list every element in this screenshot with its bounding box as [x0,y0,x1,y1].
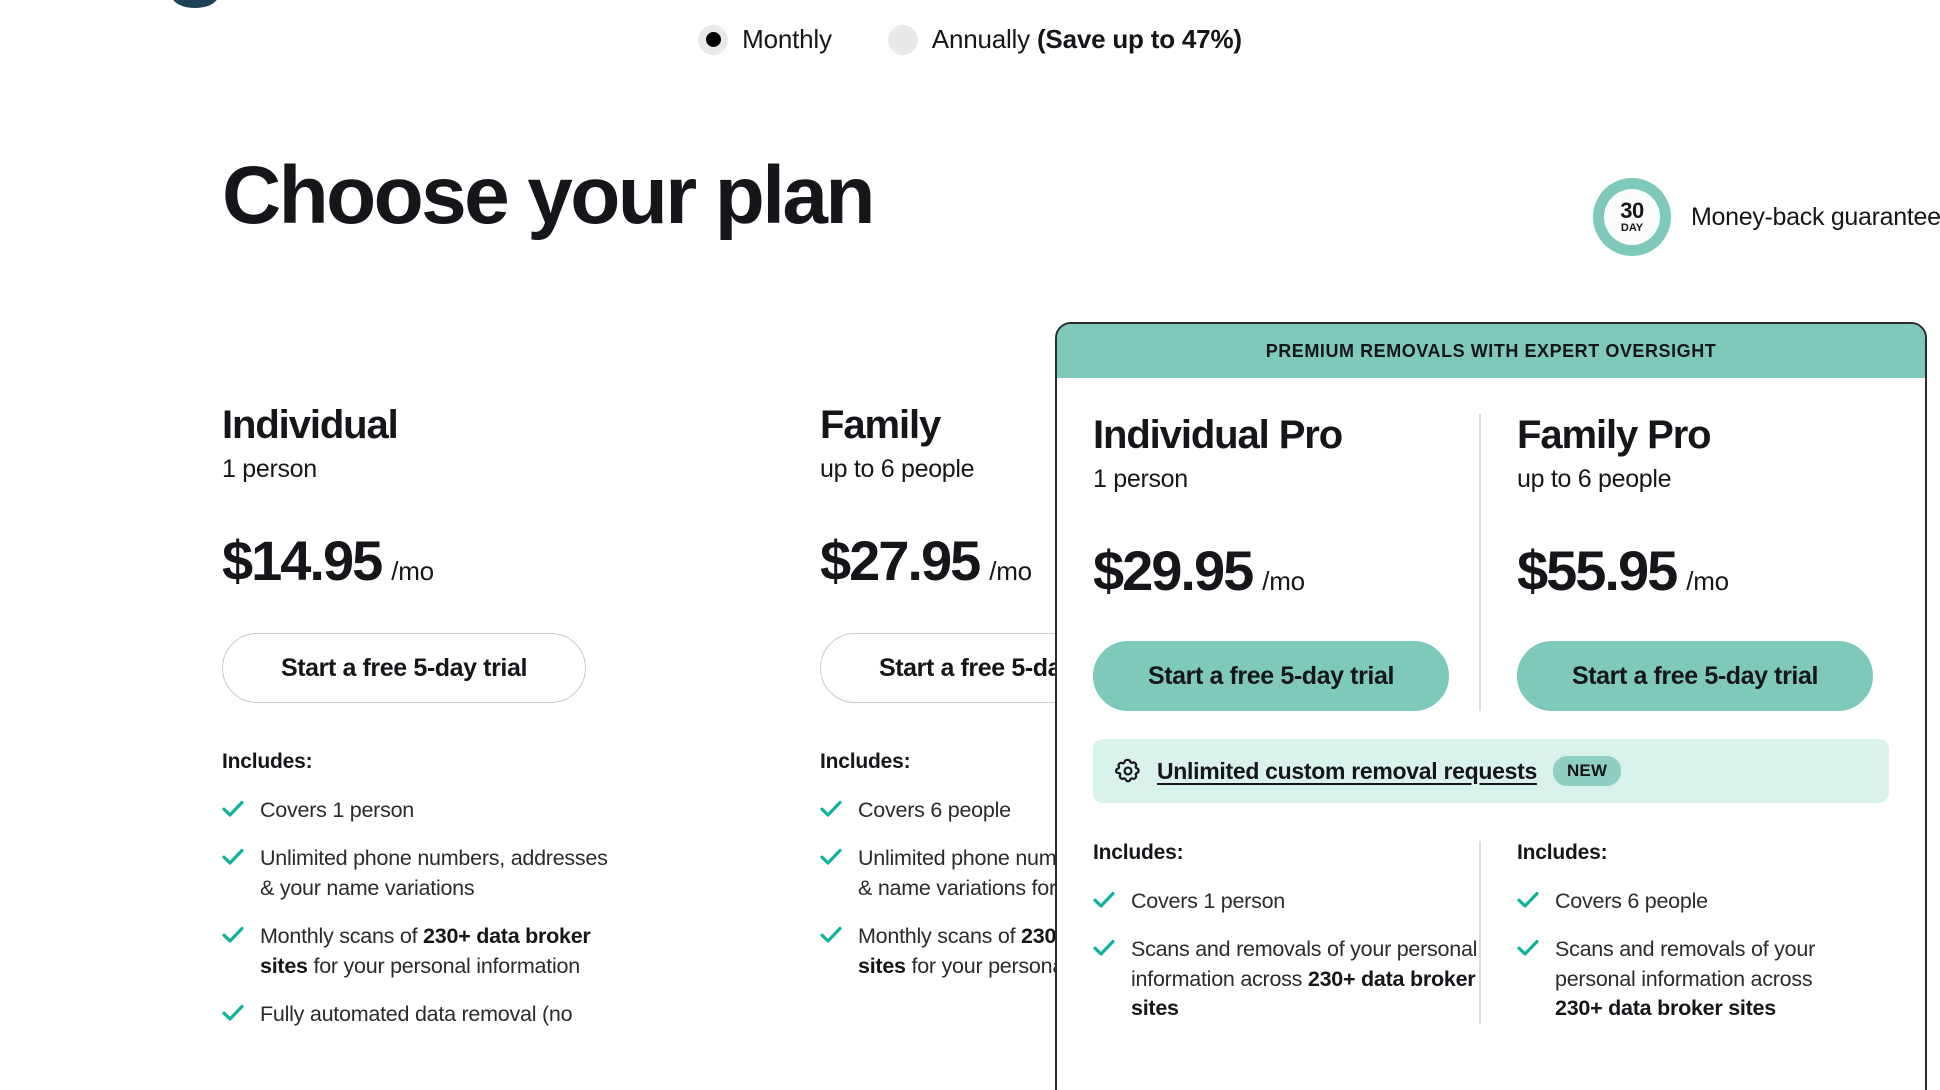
feature-text: Covers 6 people [1555,887,1708,916]
plan-card-individual: Individual 1 person $14.95 /mo Start a f… [222,404,612,1030]
includes-label: Includes: [1093,841,1479,865]
plan-name: Family Pro [1517,414,1865,456]
feature-text-pre: Covers 1 person [1131,889,1285,913]
guarantee-unit: DAY [1621,223,1643,234]
feature-text: Scans and removals of your personal info… [1555,935,1865,1023]
feature-text-pre: Covers 6 people [858,798,1011,822]
plan-price-row: $55.95 /mo [1517,538,1865,603]
feature-item: Unlimited phone numbers, addresses & you… [222,844,612,903]
billing-option-monthly[interactable]: Monthly [698,24,832,55]
annually-text: Annually [932,24,1030,54]
billing-option-monthly-label: Monthly [742,24,832,55]
start-trial-button[interactable]: Start a free 5-day trial [1093,641,1449,711]
check-icon [222,800,244,818]
start-trial-button[interactable]: Start a free 5-day trial [222,633,586,703]
feature-item: Covers 6 people [1517,887,1865,916]
plan-subtitle: 1 person [1093,465,1479,494]
plan-name: Individual Pro [1093,414,1479,456]
pro-plan-headers: Individual Pro 1 person $29.95 /mo Start… [1093,414,1889,711]
feature-text: Monthly scans of 230+ data broker sites … [260,922,612,981]
plan-price: $55.95 [1517,538,1676,603]
feature-text: Unlimited phone numbers, addresses & you… [260,844,612,903]
check-icon [222,1004,244,1022]
feature-text-pre: Monthly scans of [260,924,423,948]
guarantee-days: 30 [1620,200,1643,222]
custom-removal-link[interactable]: Unlimited custom removal requests [1157,758,1537,785]
plan-subtitle: 1 person [222,455,612,484]
feature-text-pre: Fully automated data removal (no [260,1002,572,1026]
feature-text-pre: Monthly scans of [858,924,1021,948]
feature-item: Scans and removals of your personal info… [1093,935,1479,1023]
plan-name: Individual [222,404,612,446]
feature-item: Covers 1 person [1093,887,1479,916]
feature-text-post: for your personal information [308,954,580,978]
feature-text: Covers 1 person [260,796,414,825]
feature-list-individual-pro: Includes: Covers 1 person Scans and remo… [1093,841,1479,1024]
check-icon [820,848,842,866]
feature-text: Scans and removals of your personal info… [1131,935,1479,1023]
includes-label: Includes: [222,750,612,774]
feature-text: Covers 6 people [858,796,1011,825]
guarantee-badge-icon: 30 DAY [1593,178,1671,256]
check-icon [1517,939,1539,957]
feature-list: Covers 1 person Scans and removals of yo… [1093,887,1479,1024]
start-trial-button[interactable]: Start a free 5-day trial [1517,641,1873,711]
guarantee-badge-inner: 30 DAY [1604,189,1660,245]
feature-text: Covers 1 person [1131,887,1285,916]
feature-list: Covers 6 people Scans and removals of yo… [1517,887,1865,1024]
plan-card-individual-pro: Individual Pro 1 person $29.95 /mo Start… [1093,414,1479,711]
check-icon [222,926,244,944]
pro-feature-lists: Includes: Covers 1 person Scans and remo… [1093,841,1889,1024]
feature-text-pre: Covers 1 person [260,798,414,822]
feature-list-family-pro: Includes: Covers 6 people Scans and remo… [1479,841,1865,1024]
billing-period-toggle: Monthly Annually (Save up to 47%) [0,24,1940,55]
check-icon [1093,891,1115,909]
plan-price-row: $14.95 /mo [222,528,612,593]
pricing-page: Monthly Annually (Save up to 47%) Choose… [0,0,1940,1090]
feature-item: Monthly scans of 230+ data broker sites … [222,922,612,981]
plan-price-row: $29.95 /mo [1093,538,1479,603]
plan-price: $14.95 [222,528,381,593]
plan-price: $29.95 [1093,538,1252,603]
plan-price-period: /mo [989,556,1031,587]
feature-item: Scans and removals of your personal info… [1517,935,1865,1023]
brand-logo-icon[interactable] [172,0,218,8]
gear-icon [1115,758,1141,784]
feature-item: Fully automated data removal (no [222,1000,612,1029]
plan-price: $27.95 [820,528,979,593]
check-icon [1093,939,1115,957]
check-icon [1517,891,1539,909]
feature-text-pre: Covers 6 people [1555,889,1708,913]
money-back-guarantee: 30 DAY Money-back guarantee [1593,178,1940,256]
custom-removal-upsell[interactable]: Unlimited custom removal requests NEW [1093,739,1889,803]
feature-text-bold: 230+ data broker sites [1555,996,1776,1020]
feature-text-pre: Scans and removals of your personal info… [1555,937,1815,990]
pro-card-banner: PREMIUM REMOVALS WITH EXPERT OVERSIGHT [1057,324,1925,378]
check-icon [820,800,842,818]
feature-item: Covers 1 person [222,796,612,825]
annual-savings-note: (Save up to 47%) [1037,24,1242,54]
page-title: Choose your plan [222,155,873,237]
billing-option-annually[interactable]: Annually (Save up to 47%) [888,24,1242,55]
plan-price-period: /mo [1262,566,1304,597]
check-icon [820,926,842,944]
feature-text: Fully automated data removal (no [260,1000,572,1029]
plan-price-period: /mo [391,556,433,587]
feature-list: Covers 1 person Unlimited phone numbers,… [222,796,612,1030]
new-badge: NEW [1553,756,1621,786]
plan-subtitle: up to 6 people [1517,465,1865,494]
feature-text-pre: Unlimited phone numbers, addresses & you… [260,846,608,899]
pro-card-body: Individual Pro 1 person $29.95 /mo Start… [1057,378,1925,1024]
guarantee-label: Money-back guarantee [1691,203,1940,232]
radio-annually-icon[interactable] [888,25,918,55]
pro-plans-card: PREMIUM REMOVALS WITH EXPERT OVERSIGHT I… [1055,322,1927,1090]
plan-price-period: /mo [1686,566,1728,597]
radio-monthly-icon[interactable] [698,25,728,55]
billing-option-annually-label: Annually (Save up to 47%) [932,24,1242,55]
check-icon [222,848,244,866]
plan-card-family-pro: Family Pro up to 6 people $55.95 /mo Sta… [1479,414,1865,711]
includes-label: Includes: [1517,841,1865,865]
